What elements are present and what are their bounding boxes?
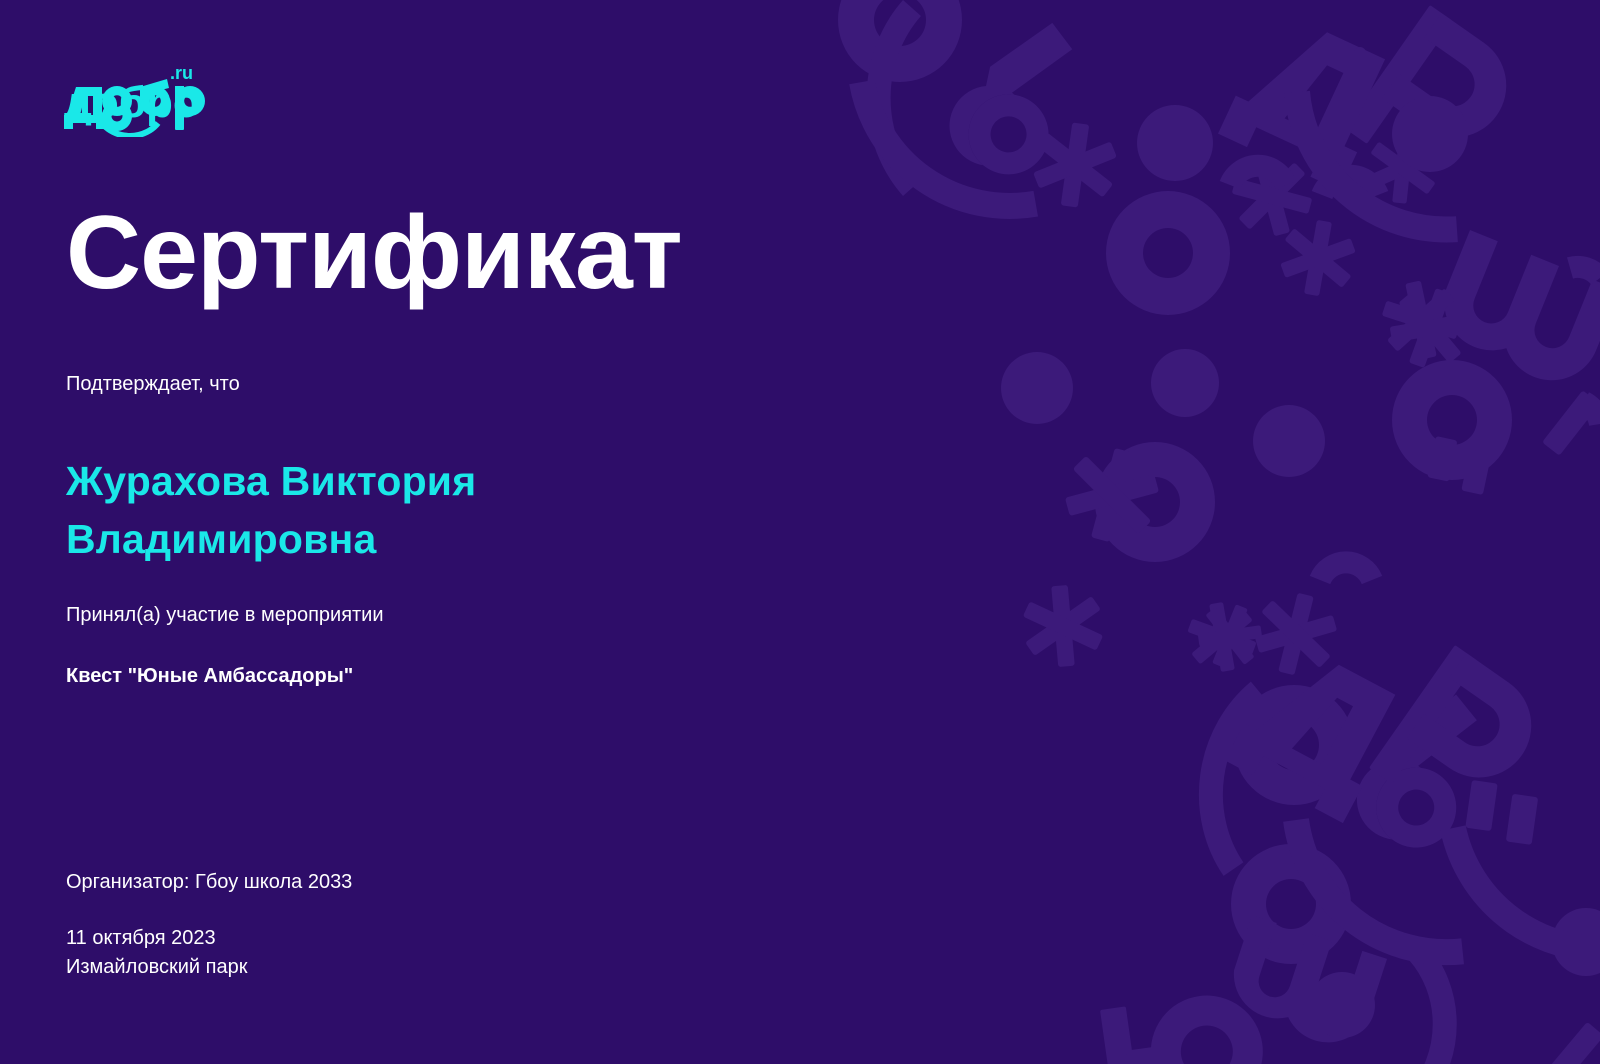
pattern-letter-b — [932, 20, 1503, 860]
recipient-name: Журахова Виктория Владимировна — [66, 452, 686, 568]
event-location: Измайловский парк — [66, 953, 247, 982]
pattern-letter-z — [1221, 230, 1600, 1054]
pattern-quote-marks — [1426, 436, 1539, 845]
pattern-asterisk — [1020, 118, 1479, 683]
event-name: Квест "Юные Амбассадоры" — [66, 663, 766, 690]
pattern-letter-o — [838, 0, 1512, 964]
pattern-smile-arc — [862, 56, 1600, 969]
event-date: 11 октября 2023 — [66, 924, 247, 953]
pattern-parenthesis — [879, 8, 1445, 1064]
participation-label: Принял(а) участие в мероприятии — [66, 602, 384, 628]
pattern-letter-d — [1218, 9, 1408, 824]
footer-meta: 11 октября 2023 Измайловский парк — [66, 924, 247, 982]
page-title: Сертификат — [66, 198, 682, 308]
pattern-letter-yu — [1100, 988, 1270, 1064]
confirms-label: Подтверждает, что — [66, 371, 240, 397]
pattern-letter-r — [1344, 5, 1552, 836]
pattern-dot — [1001, 47, 1600, 1038]
organizer-line: Организатор: Гбоу школа 2033 — [66, 869, 352, 895]
pattern-arc-cap — [1230, 166, 1600, 580]
certificate-page: добро .ru Сертификат Подтверждает, что Ж… — [0, 0, 1600, 1064]
certificate-content: Сертификат Подтверждает, что Журахова Ви… — [66, 0, 886, 1064]
pattern-slash — [1542, 390, 1600, 1064]
